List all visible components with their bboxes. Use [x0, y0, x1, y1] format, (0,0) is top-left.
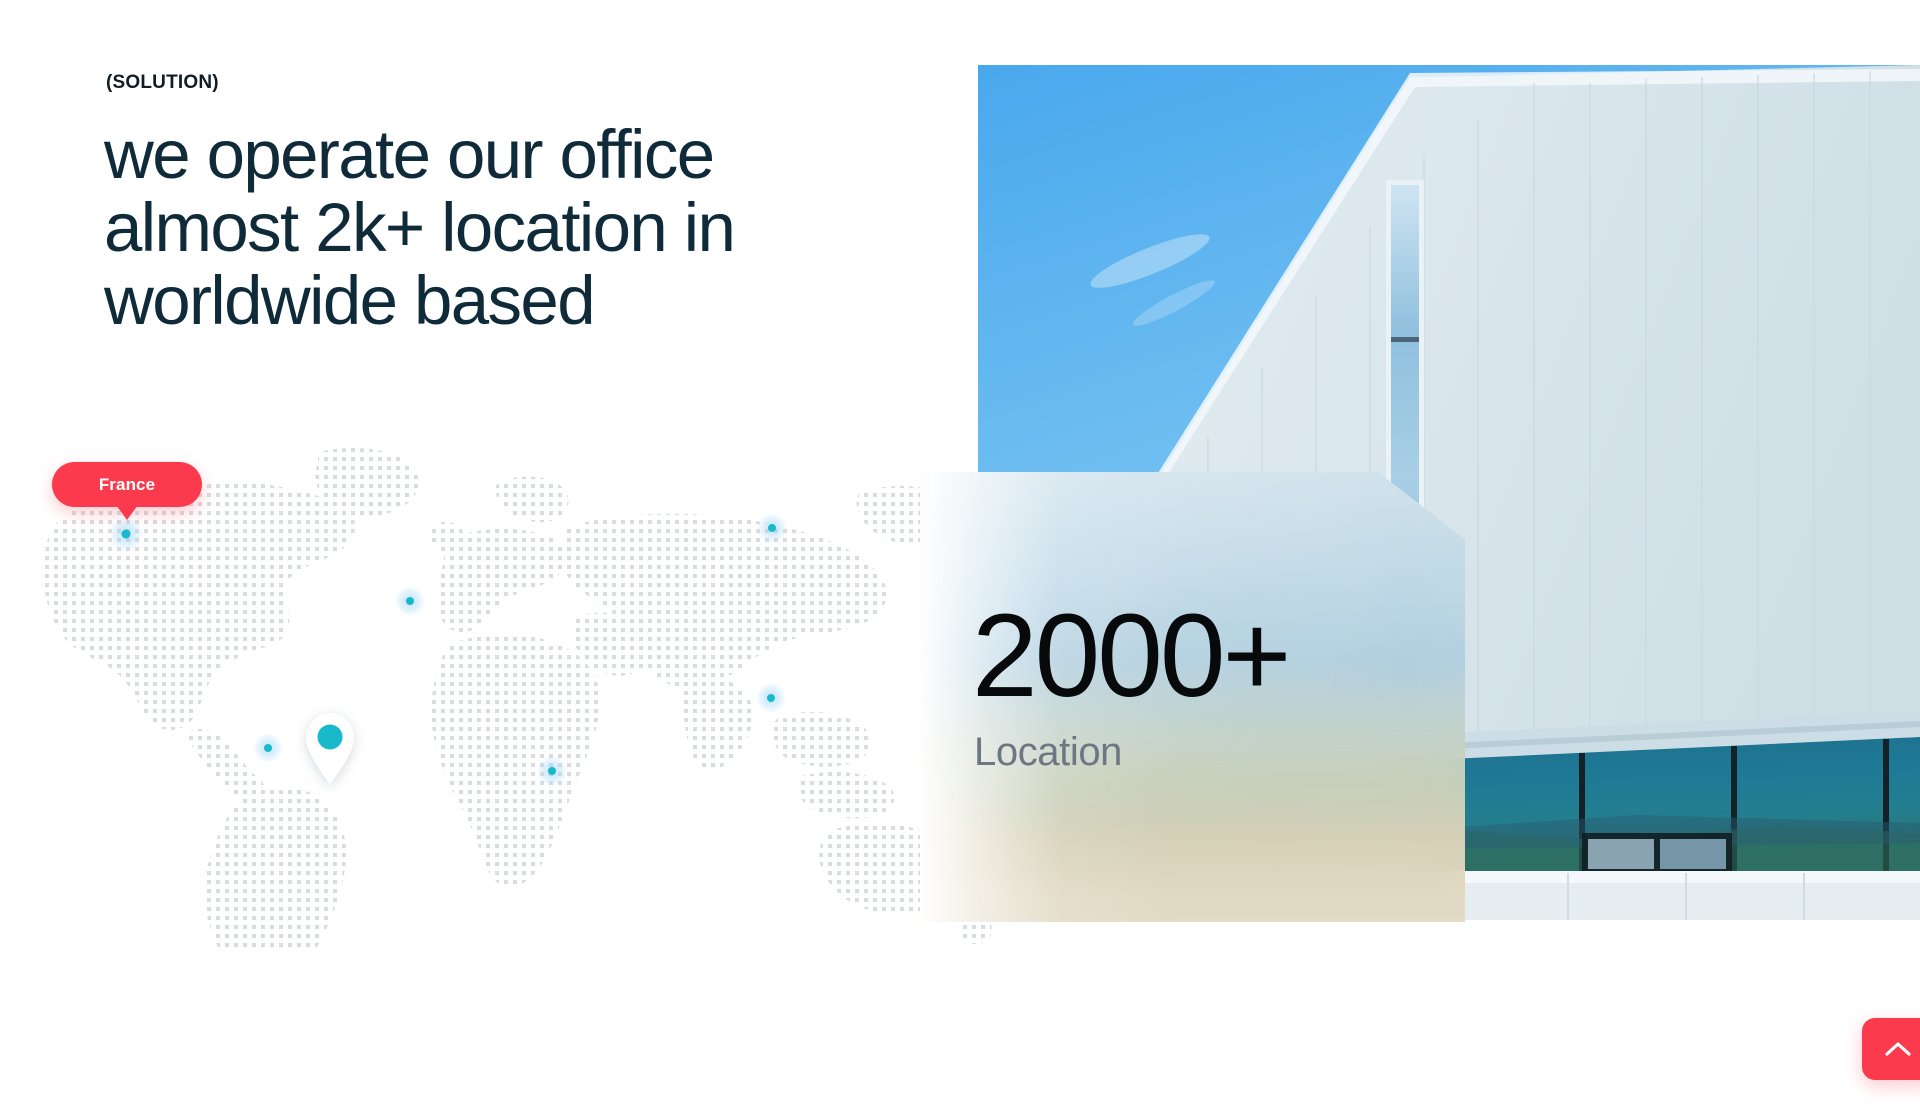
brazil-pin-marker[interactable]: [301, 711, 359, 790]
north-america-marker[interactable]: [395, 586, 425, 616]
asia-marker[interactable]: [756, 683, 786, 713]
marker-core: [548, 767, 556, 775]
south-america-marker[interactable]: [253, 733, 283, 763]
page-title: we operate our office almost 2k+ locatio…: [104, 118, 914, 337]
marker-core: [122, 530, 131, 539]
tooltip-arrow: [116, 505, 138, 520]
headline-line-2: almost 2k+ location in: [104, 191, 914, 264]
headline-line-1: we operate our office: [104, 118, 914, 191]
europe-east-marker[interactable]: [757, 513, 787, 543]
section-eyebrow-label: (SOLUTION): [106, 72, 219, 94]
map-pin-icon: [301, 711, 359, 785]
marker-core: [767, 694, 775, 702]
france-marker[interactable]: [109, 517, 143, 551]
world-map-dots-graphic: [0, 430, 1000, 950]
marker-core: [406, 597, 414, 605]
solution-locations-section: (SOLUTION) we operate our office almost …: [0, 0, 1920, 1111]
stat-number: 2000+: [972, 597, 1288, 715]
marker-core: [768, 524, 776, 532]
scroll-to-top-button[interactable]: [1862, 1018, 1920, 1080]
marker-core: [264, 744, 272, 752]
africa-marker[interactable]: [537, 756, 567, 786]
stat-card: 2000+ Location: [920, 472, 1465, 922]
world-dot-map: [0, 430, 1000, 950]
tooltip-label: France: [99, 475, 155, 495]
france-tooltip[interactable]: France: [52, 462, 202, 507]
chevron-up-icon: [1885, 1041, 1911, 1057]
headline-line-3: worldwide based: [104, 264, 914, 337]
stat-label: Location: [974, 730, 1122, 775]
